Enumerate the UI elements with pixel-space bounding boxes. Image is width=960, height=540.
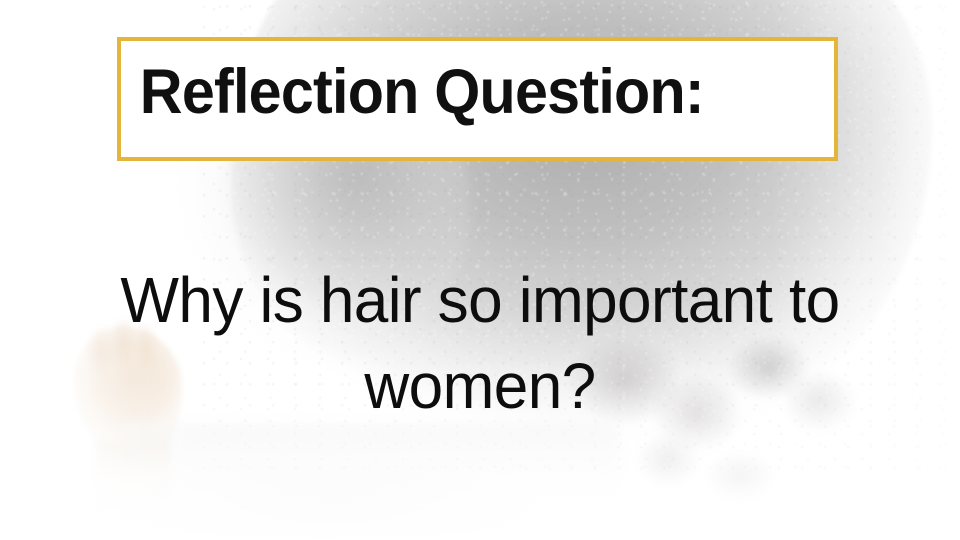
title-box: Reflection Question: (117, 37, 838, 161)
slide-canvas: Reflection Question: Why is hair so impo… (0, 0, 960, 540)
clothing-shape (120, 424, 620, 540)
page-title: Reflection Question: (121, 60, 704, 138)
reflection-question-text: Why is hair so important to women? (73, 258, 888, 430)
